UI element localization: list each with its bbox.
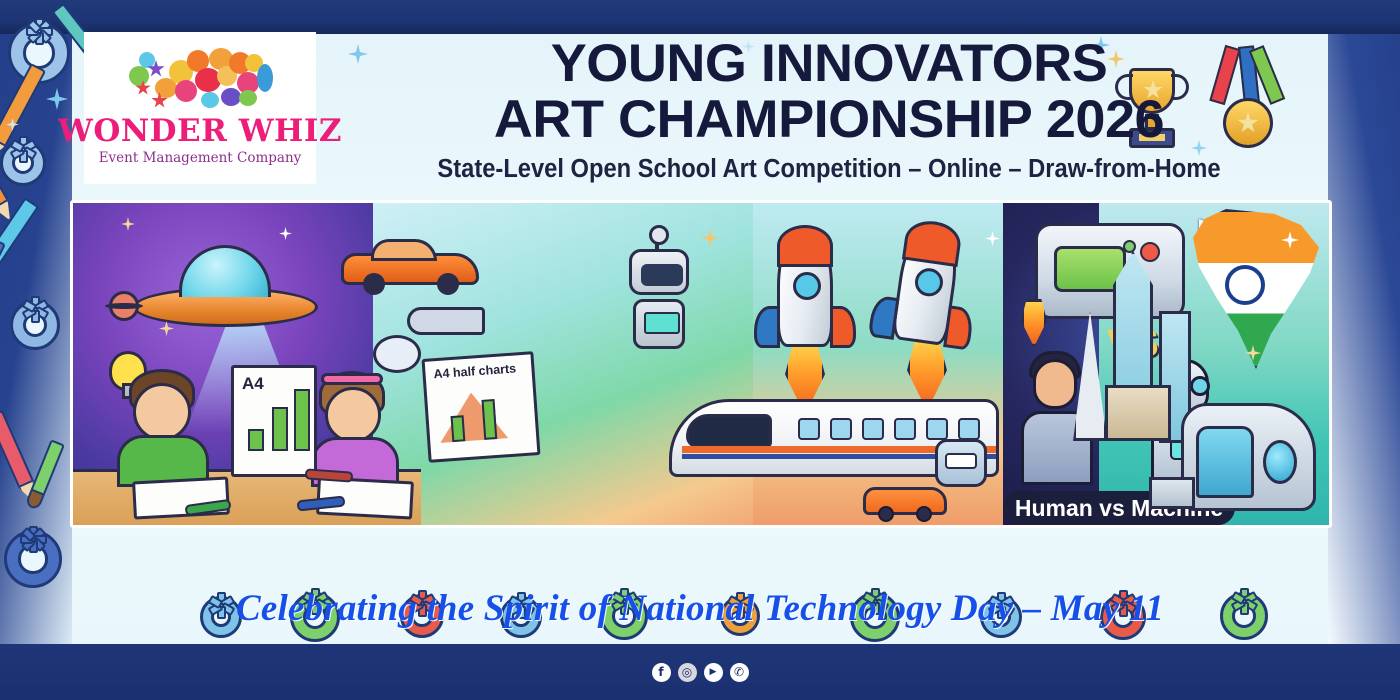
title-block: YOUNG INNOVATORS ART CHAMPIONSHIP 2026 S… [316,32,1328,184]
event-tagline: Celebrating the Spirit of National Techn… [236,587,1164,630]
headband [321,373,383,385]
title-line-1: YOUNG INNOVATORS [320,38,1338,90]
drawing-paper [132,477,230,520]
rocket-icon [777,225,833,347]
left-decorative-border [0,0,72,700]
brand-logo-card[interactable]: WONDER WHIZ Event Management Company [84,32,316,184]
a4-half-charts-paper: A4 half charts [422,351,541,463]
plane-sketch-icon [407,307,485,335]
infinity-blob-logo-icon [111,40,289,118]
pod-steps [1149,477,1195,509]
facebook-icon[interactable]: f [652,663,671,682]
right-decorative-border [1328,0,1400,700]
chart-bar [294,389,310,451]
a4-half-charts-label: A4 half charts [433,361,516,381]
event-promo-banner: WONDER WHIZ Event Management Company YOU… [0,0,1400,700]
top-navy-strip [0,0,1400,34]
planet-icon [109,291,139,321]
instagram-icon[interactable]: ◎ [678,663,697,682]
chart-bar [272,407,288,451]
a4-label: A4 [242,374,264,394]
head [133,383,191,441]
chart-curve [437,390,508,443]
robot-icon [619,249,699,379]
a4-chart-easel: A4 [231,365,317,477]
youtube-icon[interactable]: ▶ [704,663,723,682]
tagline-zone: Celebrating the Spirit of National Techn… [72,572,1328,644]
small-robot-face [945,453,977,469]
brand-name: WONDER WHIZ [58,116,342,147]
sports-car-icon [341,237,479,289]
head [325,387,381,443]
brand-tagline: Event Management Company [99,150,302,166]
banner-header: WONDER WHIZ Event Management Company YOU… [72,32,1328,192]
central-illustration: A4 A4 half charts [70,200,1332,528]
toy-car-icon [863,487,947,515]
flying-tech-device-icon [1035,223,1185,319]
sci-fi-pod-icon [1181,403,1316,511]
phone-icon[interactable]: ✆ [730,663,749,682]
chart-bar [451,415,466,442]
title-line-2: ART CHAMPIONSHIP 2026 [320,94,1338,146]
chart-bar [248,429,264,451]
chart-bar [482,399,498,440]
dome-building-icon [1105,385,1171,441]
social-links-bar: f ◎ ▶ ✆ [0,644,1400,700]
title-subtitle: State-Level Open School Art Competition … [365,155,1293,184]
thought-bubble-icon [373,335,421,373]
ashoka-chakra-icon [1225,265,1265,305]
